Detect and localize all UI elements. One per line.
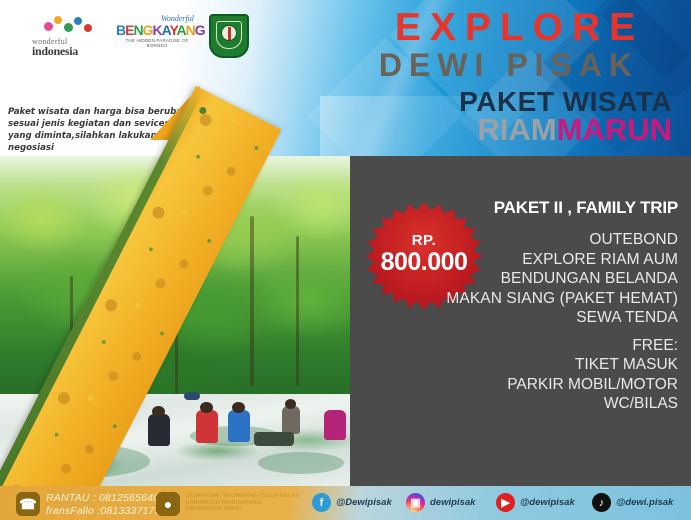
youtube-icon: ▶ <box>496 493 515 512</box>
phone-numbers[interactable]: RANTAU : 081256564066 fransFallo :081333… <box>46 492 173 517</box>
phone-line-1: RANTAU : 081256564066 <box>46 492 173 505</box>
free-item: WC/BILAS <box>420 394 678 414</box>
address-line-1: DESA PISAK, KECAMATAN TUJUH BELAS <box>186 493 301 500</box>
social-tiktok[interactable]: ♪ @dewi.pisak <box>592 493 673 512</box>
package-item-list: OUTEBOND EXPLORE RIAM AUM BENDUNGAN BELA… <box>420 230 678 328</box>
subtitle-marun: MARUN <box>557 112 672 147</box>
package-item: EXPLORE RIAM AUM <box>420 250 678 270</box>
address-line-2: KABUPATEN BENGKAYANG, <box>186 500 301 507</box>
promo-poster: EXPLORE DEWI PISAK PAKET WISATA RIAMMARU… <box>0 0 691 520</box>
free-item: PARKIR MOBIL/MOTOR <box>420 375 678 395</box>
package-title: PAKET II , FAMILY TRIP <box>430 198 678 218</box>
logo-row: wonderful indonesia Wonderful BENGKAYANG… <box>28 14 248 64</box>
government-emblem-logo <box>206 14 252 60</box>
package-item: MAKAN SIANG (PAKET HEMAT) <box>420 289 678 309</box>
shield-icon <box>209 14 249 58</box>
instagram-icon: ▣ <box>406 493 425 512</box>
map-pin-icon: ● <box>156 492 180 516</box>
wonderful-indonesia-mark-icon <box>42 14 102 36</box>
facebook-icon: f <box>312 493 331 512</box>
social-facebook[interactable]: f @Dewipisak <box>312 493 392 512</box>
subtitle-riam-marun: RIAMMARUN <box>348 112 684 148</box>
free-item-list: TIKET MASUK PARKIR MOBIL/MOTOR WC/BILAS <box>420 355 678 414</box>
free-heading: FREE: <box>430 336 678 356</box>
package-item: SEWA TENDA <box>420 308 678 328</box>
social-youtube[interactable]: ▶ @dewipisak <box>496 493 575 512</box>
disclaimer-note: Paket wisata dan harga bisa berubah sesu… <box>8 106 194 154</box>
page-title-dewi-pisak: DEWI PISAK <box>330 46 688 84</box>
tiktok-handle: @dewi.pisak <box>616 497 673 508</box>
package-item: OUTEBOND <box>420 230 678 250</box>
address-block: DESA PISAK, KECAMATAN TUJUH BELAS KABUPA… <box>186 493 301 513</box>
subtitle-riam: RIAM <box>477 112 556 147</box>
instagram-handle: dewipisak <box>430 497 475 508</box>
free-item: TIKET MASUK <box>420 355 678 375</box>
youtube-handle: @dewipisak <box>520 497 575 508</box>
bengkayang-logo: Wonderful BENGKAYANG THE HIDDEN PARADISE… <box>116 14 198 60</box>
wonderful-indonesia-line2: indonesia <box>32 44 110 59</box>
package-item: BENDUNGAN BELANDA <box>420 269 678 289</box>
hero-photo <box>0 156 350 486</box>
tiktok-icon: ♪ <box>592 493 611 512</box>
facebook-handle: @Dewipisak <box>336 497 392 508</box>
phone-icon: ☎ <box>16 492 40 516</box>
bengkayang-tagline: THE HIDDEN PARADISE OF BORNEO <box>116 38 198 48</box>
wonderful-indonesia-logo: wonderful indonesia <box>32 14 110 60</box>
phone-line-2: fransFallo :081333717555 <box>46 505 173 518</box>
page-title-explore: EXPLORE <box>352 6 687 50</box>
social-instagram[interactable]: ▣ dewipisak <box>406 493 475 512</box>
bengkayang-wordmark: BENGKAYANG <box>116 23 198 37</box>
address-line-3: KALIMANTAN BARAT <box>186 506 301 513</box>
